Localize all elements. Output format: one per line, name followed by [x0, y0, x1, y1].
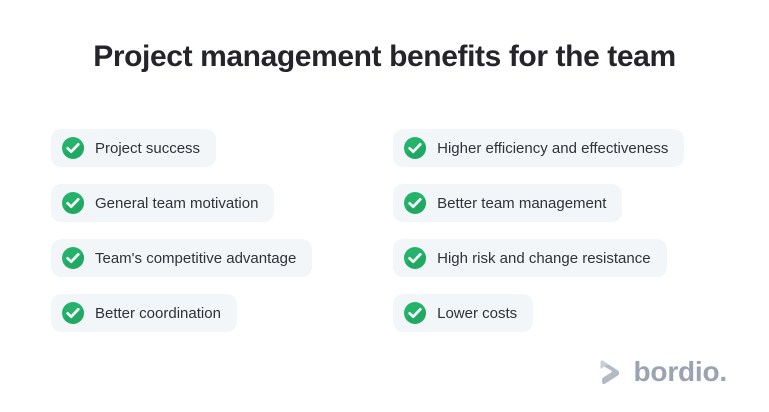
bordio-wordmark: bordio. [634, 358, 727, 386]
check-circle-icon [404, 302, 426, 324]
check-circle-icon [62, 247, 84, 269]
list-item-label: Better team management [437, 196, 606, 211]
benefits-column-left: Project success General team motivation [51, 129, 339, 332]
list-item[interactable]: High risk and change resistance [393, 239, 666, 277]
bordio-chevron-icon [598, 359, 624, 386]
list-item-label: General team motivation [95, 196, 258, 211]
list-item[interactable]: General team motivation [51, 184, 274, 222]
list-item[interactable]: Better team management [393, 184, 622, 222]
check-circle-icon [62, 137, 84, 159]
check-circle-icon [62, 302, 84, 324]
list-item[interactable]: Higher efficiency and effectiveness [393, 129, 684, 167]
check-circle-icon [404, 247, 426, 269]
list-item-label: Higher efficiency and effectiveness [437, 141, 668, 156]
list-item-label: Better coordination [95, 306, 221, 321]
list-item[interactable]: Better coordination [51, 294, 237, 332]
list-item[interactable]: Lower costs [393, 294, 533, 332]
list-item-label: Project success [95, 141, 200, 156]
benefits-columns: Project success General team motivation [51, 129, 721, 332]
page-title: Project management benefits for the team [4, 40, 765, 74]
check-circle-icon [404, 192, 426, 214]
list-item-label: High risk and change resistance [437, 251, 650, 266]
list-item[interactable]: Team's competitive advantage [51, 239, 312, 277]
check-circle-icon [404, 137, 426, 159]
benefits-column-right: Higher efficiency and effectiveness Bett… [393, 129, 721, 332]
list-item[interactable]: Project success [51, 129, 216, 167]
benefits-card: Project management benefits for the team… [4, 4, 765, 408]
list-item-label: Lower costs [437, 306, 517, 321]
bordio-logo[interactable]: bordio. [598, 358, 727, 386]
check-circle-icon [62, 192, 84, 214]
list-item-label: Team's competitive advantage [95, 251, 296, 266]
